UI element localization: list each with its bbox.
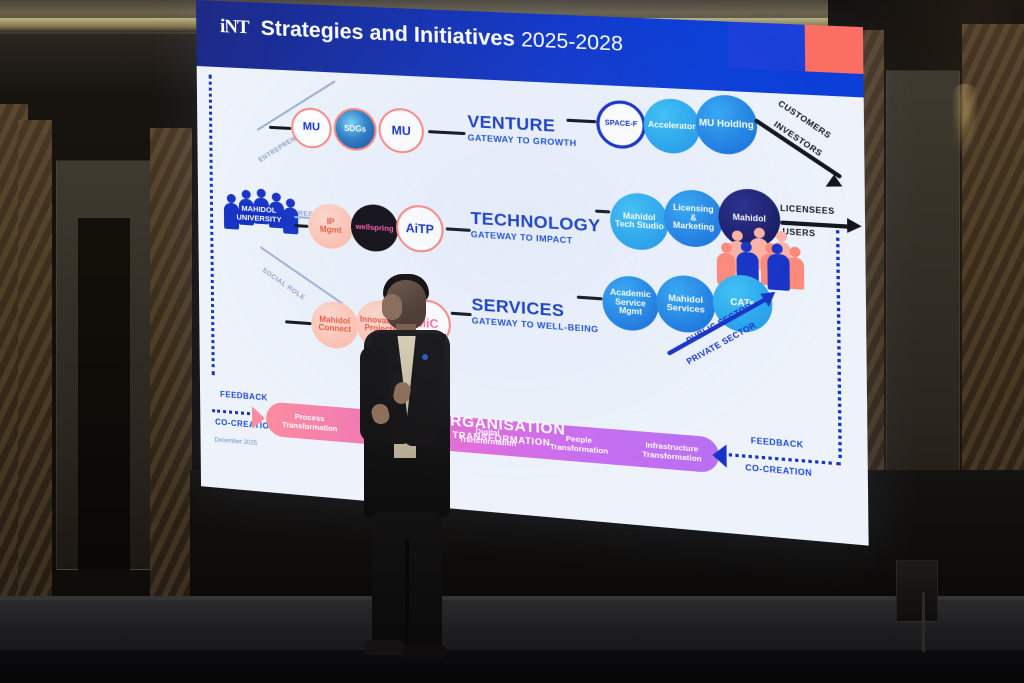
transformation-item-line2: Transformation (550, 442, 608, 456)
lane-title-venture: VENTURE GATEWAY TO GROWTH (467, 112, 576, 149)
projection-screen: iNT Strategies and Initiatives 2025-2028 (196, 0, 869, 546)
transformation-item-line2: Transformation (282, 420, 337, 434)
slide-year-range: 2025-2028 (521, 29, 623, 56)
transformation-item[interactable]: People Transformation (533, 431, 625, 457)
tech-connector-right (595, 210, 610, 214)
presenter-lapel-pin (422, 354, 428, 360)
pillar-center-left (150, 128, 192, 606)
presenter-shoe-left (364, 640, 406, 655)
page-title: Strategies and Initiatives 2025-2028 (261, 17, 624, 57)
header-accent-blue (727, 22, 805, 72)
doorway-left (78, 218, 130, 570)
tech-connector-mid (446, 227, 471, 232)
lane-venture: MU SDGs MU VENTURE GATEWAY TO GROWTH SPA… (197, 78, 865, 193)
slide: iNT Strategies and Initiatives 2025-2028 (196, 0, 869, 546)
arrow-label-licensees: LICENSEES (780, 204, 835, 217)
arrow-head-licensees (847, 218, 862, 234)
tech-input-ip-mgmt[interactable]: IPMgmt (308, 203, 353, 250)
feedback-loop-bottom-left (212, 409, 256, 416)
presenter-leg-gap (405, 540, 409, 644)
int-logo: iNT (220, 16, 249, 39)
venture-input-incubation[interactable]: MU (378, 107, 424, 154)
pillar-left (18, 120, 52, 600)
stage-front (0, 650, 1024, 683)
mic-stand (922, 592, 925, 652)
serv-connector-right (577, 296, 603, 301)
venture-output-mu-holding[interactable]: MU Holding (695, 94, 757, 156)
venture-output-spacef[interactable]: SPACE-F (596, 99, 646, 149)
loudspeaker (896, 560, 938, 622)
lane-title-technology: TECHNOLOGY GATEWAY TO IMPACT (470, 208, 600, 247)
feedback-right-line2: CO-CREATION (730, 462, 828, 480)
transformation-item[interactable]: Infrastructure Transformation (625, 438, 719, 465)
wall-light (952, 84, 978, 154)
tech-output-licensing[interactable]: Licensing&Marketing (664, 188, 723, 248)
venture-input-sdgs[interactable]: SDGs (333, 107, 376, 152)
tech-output-tech-studio[interactable]: MahidolTech Studio (610, 192, 669, 252)
venture-in-connector (269, 126, 291, 130)
presenter-shoe-right (402, 644, 448, 659)
serv-in-connector (285, 320, 311, 325)
slide-title-text: Strategies and Initiatives (261, 17, 515, 51)
venture-input-mu[interactable]: MU (291, 107, 332, 150)
presenter (336, 272, 476, 666)
feedback-left-line1: FEEDBACK (214, 389, 274, 403)
header-accent-coral (805, 25, 864, 74)
tech-input-wellspring[interactable]: wellspring (351, 203, 399, 253)
slide-body: MAHIDOLUNIVERSITY ENTREPRENEURSHIP RESEA… (197, 66, 869, 546)
feedback-right-line1: FEEDBACK (736, 435, 818, 451)
venture-output-accelerator[interactable]: Accelerator (643, 98, 700, 155)
venture-connector-mid (428, 130, 465, 135)
conference-photo-scene: iNT Strategies and Initiatives 2025-2028 (0, 0, 1024, 683)
tech-input-aitp[interactable]: AiTP (396, 204, 444, 254)
transformation-arrow-left (252, 406, 265, 429)
lane-title-services: SERVICES GATEWAY TO WELL-BEING (471, 295, 598, 335)
presenter-face (382, 294, 402, 320)
slide-date: December 2025 (214, 437, 257, 447)
transformation-arrow-right (712, 443, 726, 467)
tech-in-connector (294, 224, 308, 228)
